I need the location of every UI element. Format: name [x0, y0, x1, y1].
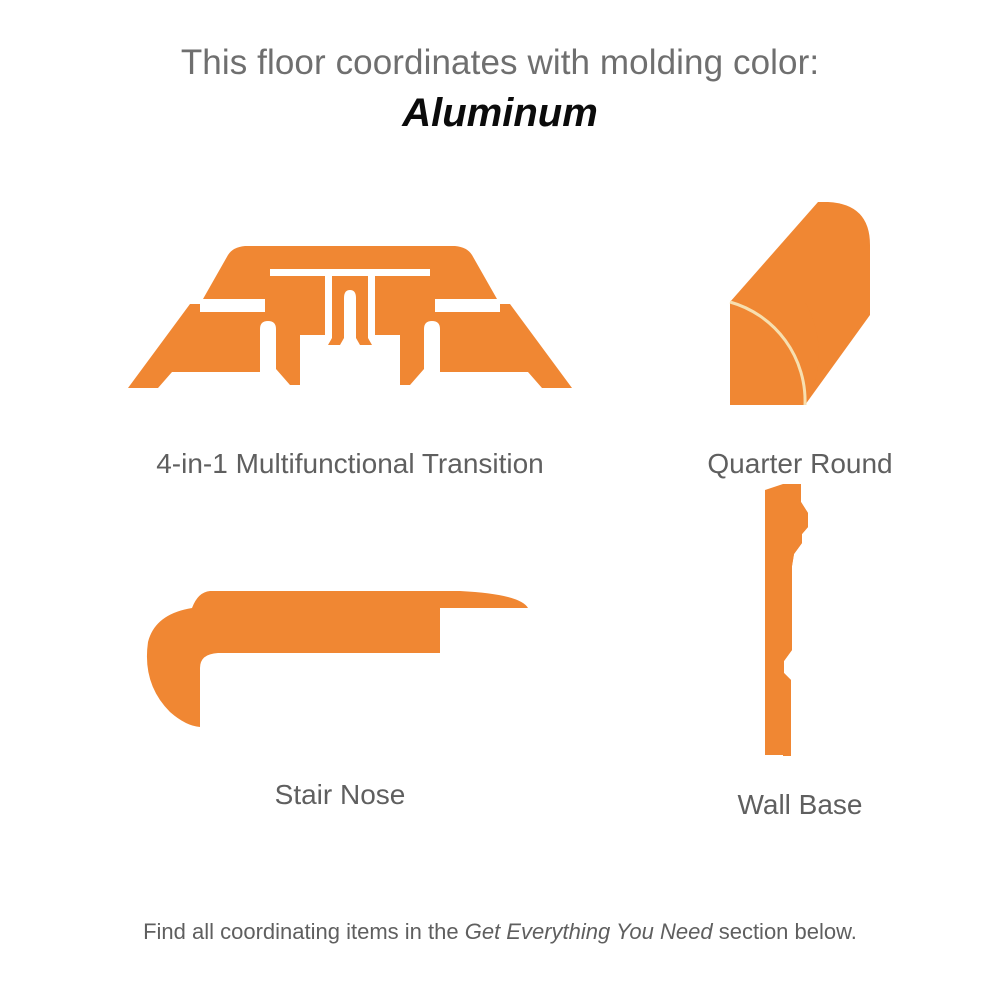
stair-nose-profile-icon [130, 580, 550, 730]
molding-item-quarter-round: Quarter Round [640, 170, 960, 481]
transition-center-tongue [328, 276, 372, 345]
quarter-round-art [640, 170, 960, 435]
wall-base-profile-icon [745, 480, 855, 760]
molding-item-wall-base: Wall Base [640, 470, 960, 822]
stair-nose-body [147, 591, 528, 727]
transition-cap [203, 246, 497, 299]
quarter-round-profile-icon [700, 190, 900, 415]
molding-item-label-four-in-one-transition: 4-in-1 Multifunctional Transition [40, 447, 660, 481]
wall-base-body [765, 484, 808, 755]
header-intro-text: This floor coordinates with molding colo… [0, 42, 1000, 84]
stair-nose-art [30, 560, 650, 750]
header: This floor coordinates with molding colo… [0, 0, 1000, 138]
molding-item-stair-nose: Stair Nose [30, 560, 650, 812]
molding-color-name: Aluminum [0, 88, 1000, 138]
molding-item-label-stair-nose: Stair Nose [30, 778, 650, 812]
footer-emphasis: Get Everything You Need [465, 919, 713, 944]
molding-item-label-wall-base: Wall Base [640, 788, 960, 822]
footer-suffix: section below. [713, 919, 857, 944]
footer-prefix: Find all coordinating items in the [143, 919, 465, 944]
transition-art [40, 190, 660, 435]
transition-profile-icon [100, 233, 600, 393]
wall-base-art [640, 470, 960, 770]
molding-coordination-card: This floor coordinates with molding colo… [0, 0, 1000, 1000]
molding-items-grid: 4-in-1 Multifunctional Transition Quarte… [0, 170, 1000, 890]
molding-item-four-in-one-transition: 4-in-1 Multifunctional Transition [40, 190, 660, 481]
footer-note: Find all coordinating items in the Get E… [0, 918, 1000, 946]
